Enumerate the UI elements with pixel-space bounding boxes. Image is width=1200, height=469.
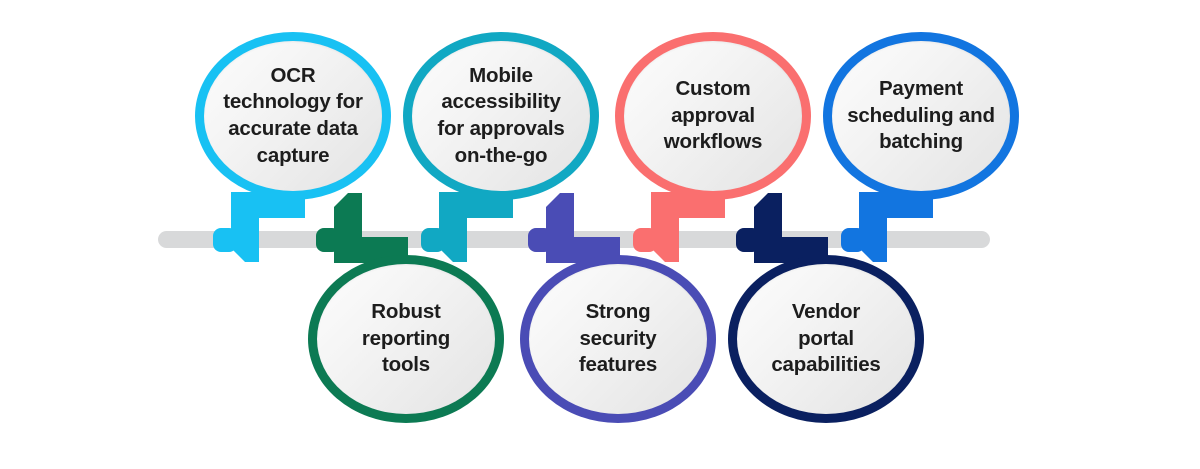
timeline-dot-vendor-portal[interactable] [736, 228, 760, 252]
bubble-inner-fill: Custom approval workflows [624, 41, 802, 191]
bubble-outline: Mobile accessibility for approvals on-th… [403, 32, 599, 200]
bubble-inner-fill: Vendor portal capabilities [737, 264, 915, 414]
bubble-label: Payment scheduling and batching [847, 76, 995, 156]
speech-bubble-payment-scheduling[interactable]: Payment scheduling and batching [823, 32, 1019, 200]
timeline-dot-mobile-accessibility[interactable] [421, 228, 445, 252]
bubble-outline: Vendor portal capabilities [728, 255, 924, 423]
bubble-outline: Payment scheduling and batching [823, 32, 1019, 200]
bubble-label: Custom approval workflows [664, 76, 762, 156]
speech-bubble-robust-reporting[interactable]: Robust reporting tools [308, 255, 504, 423]
timeline-dot-payment-scheduling[interactable] [841, 228, 865, 252]
bubble-inner-fill: Mobile accessibility for approvals on-th… [412, 41, 590, 191]
bubble-label: Strong security features [579, 299, 657, 379]
bubble-label: Mobile accessibility for approvals on-th… [437, 63, 564, 170]
bubble-outline: Robust reporting tools [308, 255, 504, 423]
bubble-outline: OCR technology for accurate data capture [195, 32, 391, 200]
speech-bubble-ocr-technology[interactable]: OCR technology for accurate data capture [195, 32, 391, 200]
speech-bubble-custom-approval[interactable]: Custom approval workflows [615, 32, 811, 200]
bubble-outline: Strong security features [520, 255, 716, 423]
bubble-inner-fill: Robust reporting tools [317, 264, 495, 414]
infographic-canvas: OCR technology for accurate data capture… [0, 0, 1200, 469]
bubble-inner-fill: Strong security features [529, 264, 707, 414]
bubble-inner-fill: OCR technology for accurate data capture [204, 41, 382, 191]
bubble-label: Robust reporting tools [362, 299, 450, 379]
bubble-label: OCR technology for accurate data capture [223, 63, 363, 170]
speech-bubble-strong-security[interactable]: Strong security features [520, 255, 716, 423]
timeline-dot-custom-approval[interactable] [633, 228, 657, 252]
bubble-label: Vendor portal capabilities [771, 299, 880, 379]
timeline-dot-robust-reporting[interactable] [316, 228, 340, 252]
timeline-dot-ocr-technology[interactable] [213, 228, 237, 252]
timeline-dot-strong-security[interactable] [528, 228, 552, 252]
speech-bubble-mobile-accessibility[interactable]: Mobile accessibility for approvals on-th… [403, 32, 599, 200]
bubble-inner-fill: Payment scheduling and batching [832, 41, 1010, 191]
timeline-bar [158, 231, 990, 248]
speech-bubble-vendor-portal[interactable]: Vendor portal capabilities [728, 255, 924, 423]
bubble-outline: Custom approval workflows [615, 32, 811, 200]
